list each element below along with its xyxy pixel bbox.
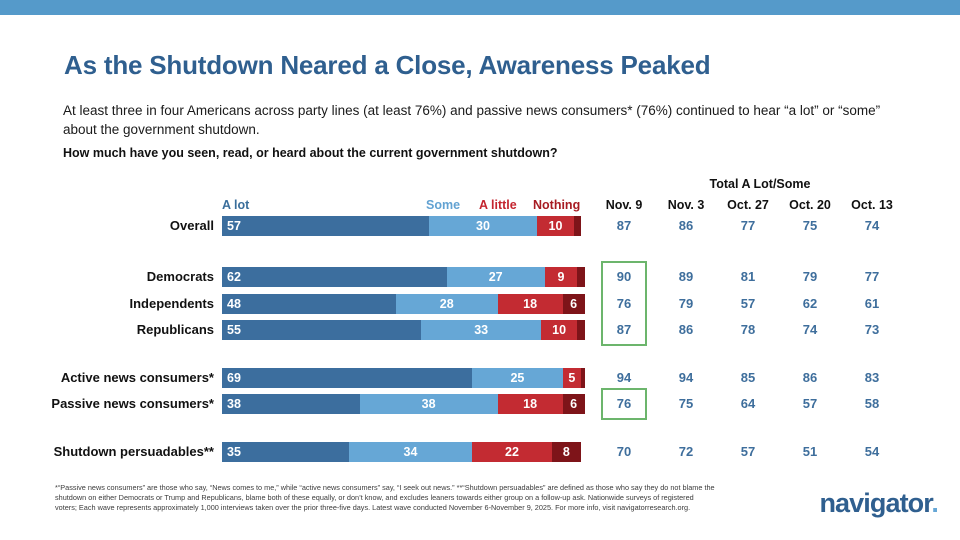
bar-segment-some-democrats: 27	[447, 267, 545, 287]
total-group-header: Total A Lot/Some	[660, 177, 860, 191]
total-passive-news-consumers-nov-3: 75	[655, 394, 717, 414]
row-label-shutdown-persuadables: Shutdown persuadables**	[8, 442, 214, 462]
total-republicans-oct-20: 74	[779, 320, 841, 340]
bar-segment-nothing-active-news-consumers	[581, 368, 585, 388]
bar-republicans[interactable]: 553310	[222, 320, 585, 340]
total-passive-news-consumers-oct-27: 64	[717, 394, 779, 414]
bar-segment-some-republicans: 33	[421, 320, 541, 340]
footnote: *“Passive news consumers” are those who …	[55, 483, 715, 514]
bar-passive-news-consumers[interactable]: 3838186	[222, 394, 585, 414]
column-header-oct-13: Oct. 13	[841, 198, 903, 212]
total-passive-news-consumers-oct-20: 57	[779, 394, 841, 414]
total-passive-news-consumers-nov-9: 76	[593, 394, 655, 414]
row-label-overall: Overall	[8, 216, 214, 236]
total-active-news-consumers-oct-13: 83	[841, 368, 903, 388]
bar-segment-alot-passive-news-consumers: 38	[222, 394, 360, 414]
total-overall-oct-13: 74	[841, 216, 903, 236]
bar-democrats[interactable]: 62279	[222, 267, 585, 287]
column-header-oct-20: Oct. 20	[779, 198, 841, 212]
bar-shutdown-persuadables[interactable]: 3534228	[222, 442, 581, 462]
bar-segment-alittle-overall: 10	[537, 216, 573, 236]
column-header-oct-27: Oct. 27	[717, 198, 779, 212]
legend-a-lot: A lot	[222, 198, 249, 212]
bar-segment-alittle-republicans: 10	[541, 320, 577, 340]
total-overall-nov-9: 87	[593, 216, 655, 236]
total-shutdown-persuadables-oct-27: 57	[717, 442, 779, 462]
bar-segment-alot-republicans: 55	[222, 320, 421, 340]
total-overall-nov-3: 86	[655, 216, 717, 236]
bar-segment-alittle-shutdown-persuadables: 22	[472, 442, 552, 462]
total-shutdown-persuadables-nov-3: 72	[655, 442, 717, 462]
row-label-independents: Independents	[8, 294, 214, 314]
bar-segment-nothing-overall	[574, 216, 581, 236]
total-republicans-nov-9: 87	[593, 320, 655, 340]
bar-segment-alittle-democrats: 9	[545, 267, 578, 287]
bar-segment-nothing-independents: 6	[563, 294, 585, 314]
legend-a-little: A little	[479, 198, 517, 212]
bar-segment-alot-shutdown-persuadables: 35	[222, 442, 349, 462]
navigator-logo: navigator.	[819, 488, 938, 519]
total-republicans-nov-3: 86	[655, 320, 717, 340]
total-shutdown-persuadables-nov-9: 70	[593, 442, 655, 462]
total-democrats-nov-3: 89	[655, 267, 717, 287]
bar-active-news-consumers[interactable]: 69255	[222, 368, 585, 388]
bar-segment-some-independents: 28	[396, 294, 498, 314]
row-label-democrats: Democrats	[8, 267, 214, 287]
bar-segment-some-overall: 30	[429, 216, 538, 236]
stacked-bar-chart: Total A Lot/Some A lot Some A little Not…	[0, 0, 960, 540]
slide-root: As the Shutdown Neared a Close, Awarenes…	[0, 0, 960, 540]
total-democrats-oct-13: 77	[841, 267, 903, 287]
bar-segment-alot-independents: 48	[222, 294, 396, 314]
bar-independents[interactable]: 4828186	[222, 294, 585, 314]
total-active-news-consumers-nov-3: 94	[655, 368, 717, 388]
row-label-republicans: Republicans	[8, 320, 214, 340]
bar-segment-alot-active-news-consumers: 69	[222, 368, 472, 388]
bar-segment-some-shutdown-persuadables: 34	[349, 442, 472, 462]
total-shutdown-persuadables-oct-20: 51	[779, 442, 841, 462]
total-republicans-oct-27: 78	[717, 320, 779, 340]
bar-segment-alot-overall: 57	[222, 216, 429, 236]
total-active-news-consumers-oct-27: 85	[717, 368, 779, 388]
total-independents-oct-20: 62	[779, 294, 841, 314]
row-label-active-news-consumers: Active news consumers*	[8, 368, 214, 388]
bar-segment-alittle-active-news-consumers: 5	[563, 368, 581, 388]
legend-nothing: Nothing	[533, 198, 580, 212]
total-active-news-consumers-nov-9: 94	[593, 368, 655, 388]
total-overall-oct-20: 75	[779, 216, 841, 236]
total-republicans-oct-13: 73	[841, 320, 903, 340]
total-independents-nov-3: 79	[655, 294, 717, 314]
row-label-passive-news-consumers: Passive news consumers*	[8, 394, 214, 414]
total-democrats-nov-9: 90	[593, 267, 655, 287]
total-democrats-oct-27: 81	[717, 267, 779, 287]
total-democrats-oct-20: 79	[779, 267, 841, 287]
bar-segment-alittle-independents: 18	[498, 294, 563, 314]
bar-segment-alittle-passive-news-consumers: 18	[498, 394, 563, 414]
total-shutdown-persuadables-oct-13: 54	[841, 442, 903, 462]
bar-overall[interactable]: 573010	[222, 216, 581, 236]
bar-segment-some-active-news-consumers: 25	[472, 368, 563, 388]
bar-segment-nothing-shutdown-persuadables: 8	[552, 442, 581, 462]
bar-segment-nothing-passive-news-consumers: 6	[563, 394, 585, 414]
logo-wordmark: navigator	[819, 488, 931, 518]
bar-segment-nothing-republicans	[577, 320, 584, 340]
total-passive-news-consumers-oct-13: 58	[841, 394, 903, 414]
total-overall-oct-27: 77	[717, 216, 779, 236]
total-active-news-consumers-oct-20: 86	[779, 368, 841, 388]
logo-dot-icon: .	[931, 488, 938, 518]
total-independents-oct-13: 61	[841, 294, 903, 314]
total-independents-oct-27: 57	[717, 294, 779, 314]
legend-some: Some	[426, 198, 460, 212]
column-header-nov-3: Nov. 3	[655, 198, 717, 212]
bar-segment-nothing-democrats	[577, 267, 584, 287]
bar-segment-alot-democrats: 62	[222, 267, 447, 287]
bar-segment-some-passive-news-consumers: 38	[360, 394, 498, 414]
total-independents-nov-9: 76	[593, 294, 655, 314]
column-header-nov-9: Nov. 9	[593, 198, 655, 212]
